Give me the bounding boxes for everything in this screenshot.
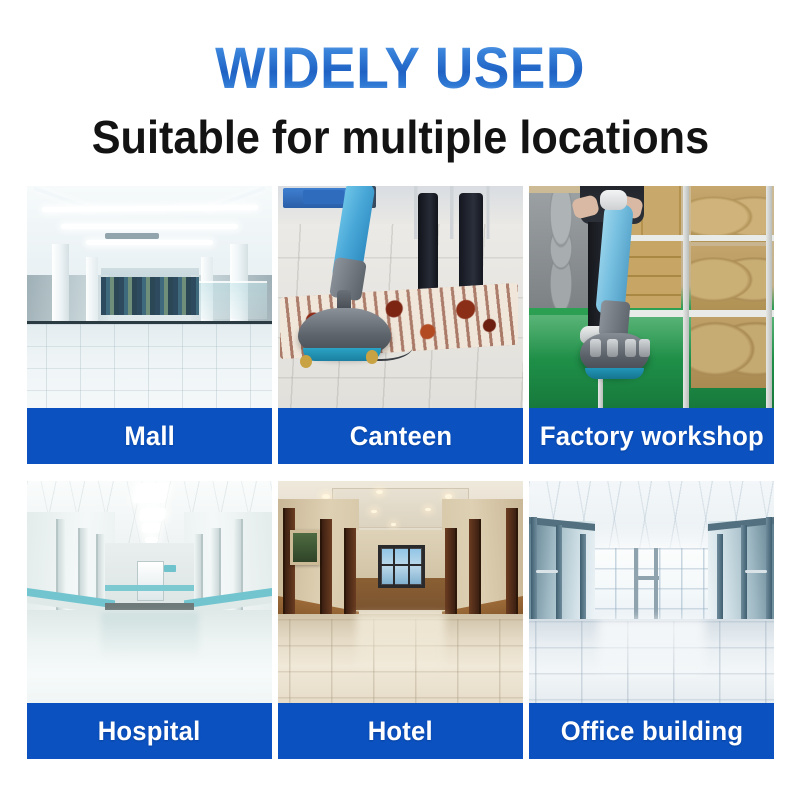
location-card-canteen[interactable]: Canteen [278, 186, 523, 464]
hospital-corridor-photo [27, 481, 272, 703]
office-building-lobby-photo [529, 481, 774, 703]
mall-corridor-photo [27, 186, 272, 408]
caption-bar-factory-workshop: Factory workshop [529, 408, 774, 464]
location-card-hotel[interactable]: Hotel [278, 481, 523, 759]
caption-bar-hospital: Hospital [27, 703, 272, 759]
caption-label: Hotel [368, 716, 433, 747]
caption-bar-office-building: Office building [529, 703, 774, 759]
caption-bar-canteen: Canteen [278, 408, 523, 464]
caption-label: Hospital [98, 716, 201, 747]
caption-label: Mall [124, 421, 175, 452]
factory-workshop-photo [529, 186, 774, 408]
location-grid: Mall Canteen [27, 186, 773, 759]
poster-root: WIDELY USED Suitable for multiple locati… [0, 0, 800, 800]
caption-label: Canteen [349, 421, 452, 452]
hotel-corridor-photo [278, 481, 523, 703]
location-card-mall[interactable]: Mall [27, 186, 272, 464]
headline: WIDELY USED [215, 40, 585, 98]
location-card-factory-workshop[interactable]: Factory workshop [529, 186, 774, 464]
caption-bar-hotel: Hotel [278, 703, 523, 759]
location-card-office-building[interactable]: Office building [529, 481, 774, 759]
location-card-hospital[interactable]: Hospital [27, 481, 272, 759]
caption-label: Factory workshop [540, 421, 764, 452]
caption-label: Office building [560, 716, 742, 747]
subheadline: Suitable for multiple locations [91, 114, 708, 160]
caption-bar-mall: Mall [27, 408, 272, 464]
canteen-scrubber-photo [278, 186, 523, 408]
